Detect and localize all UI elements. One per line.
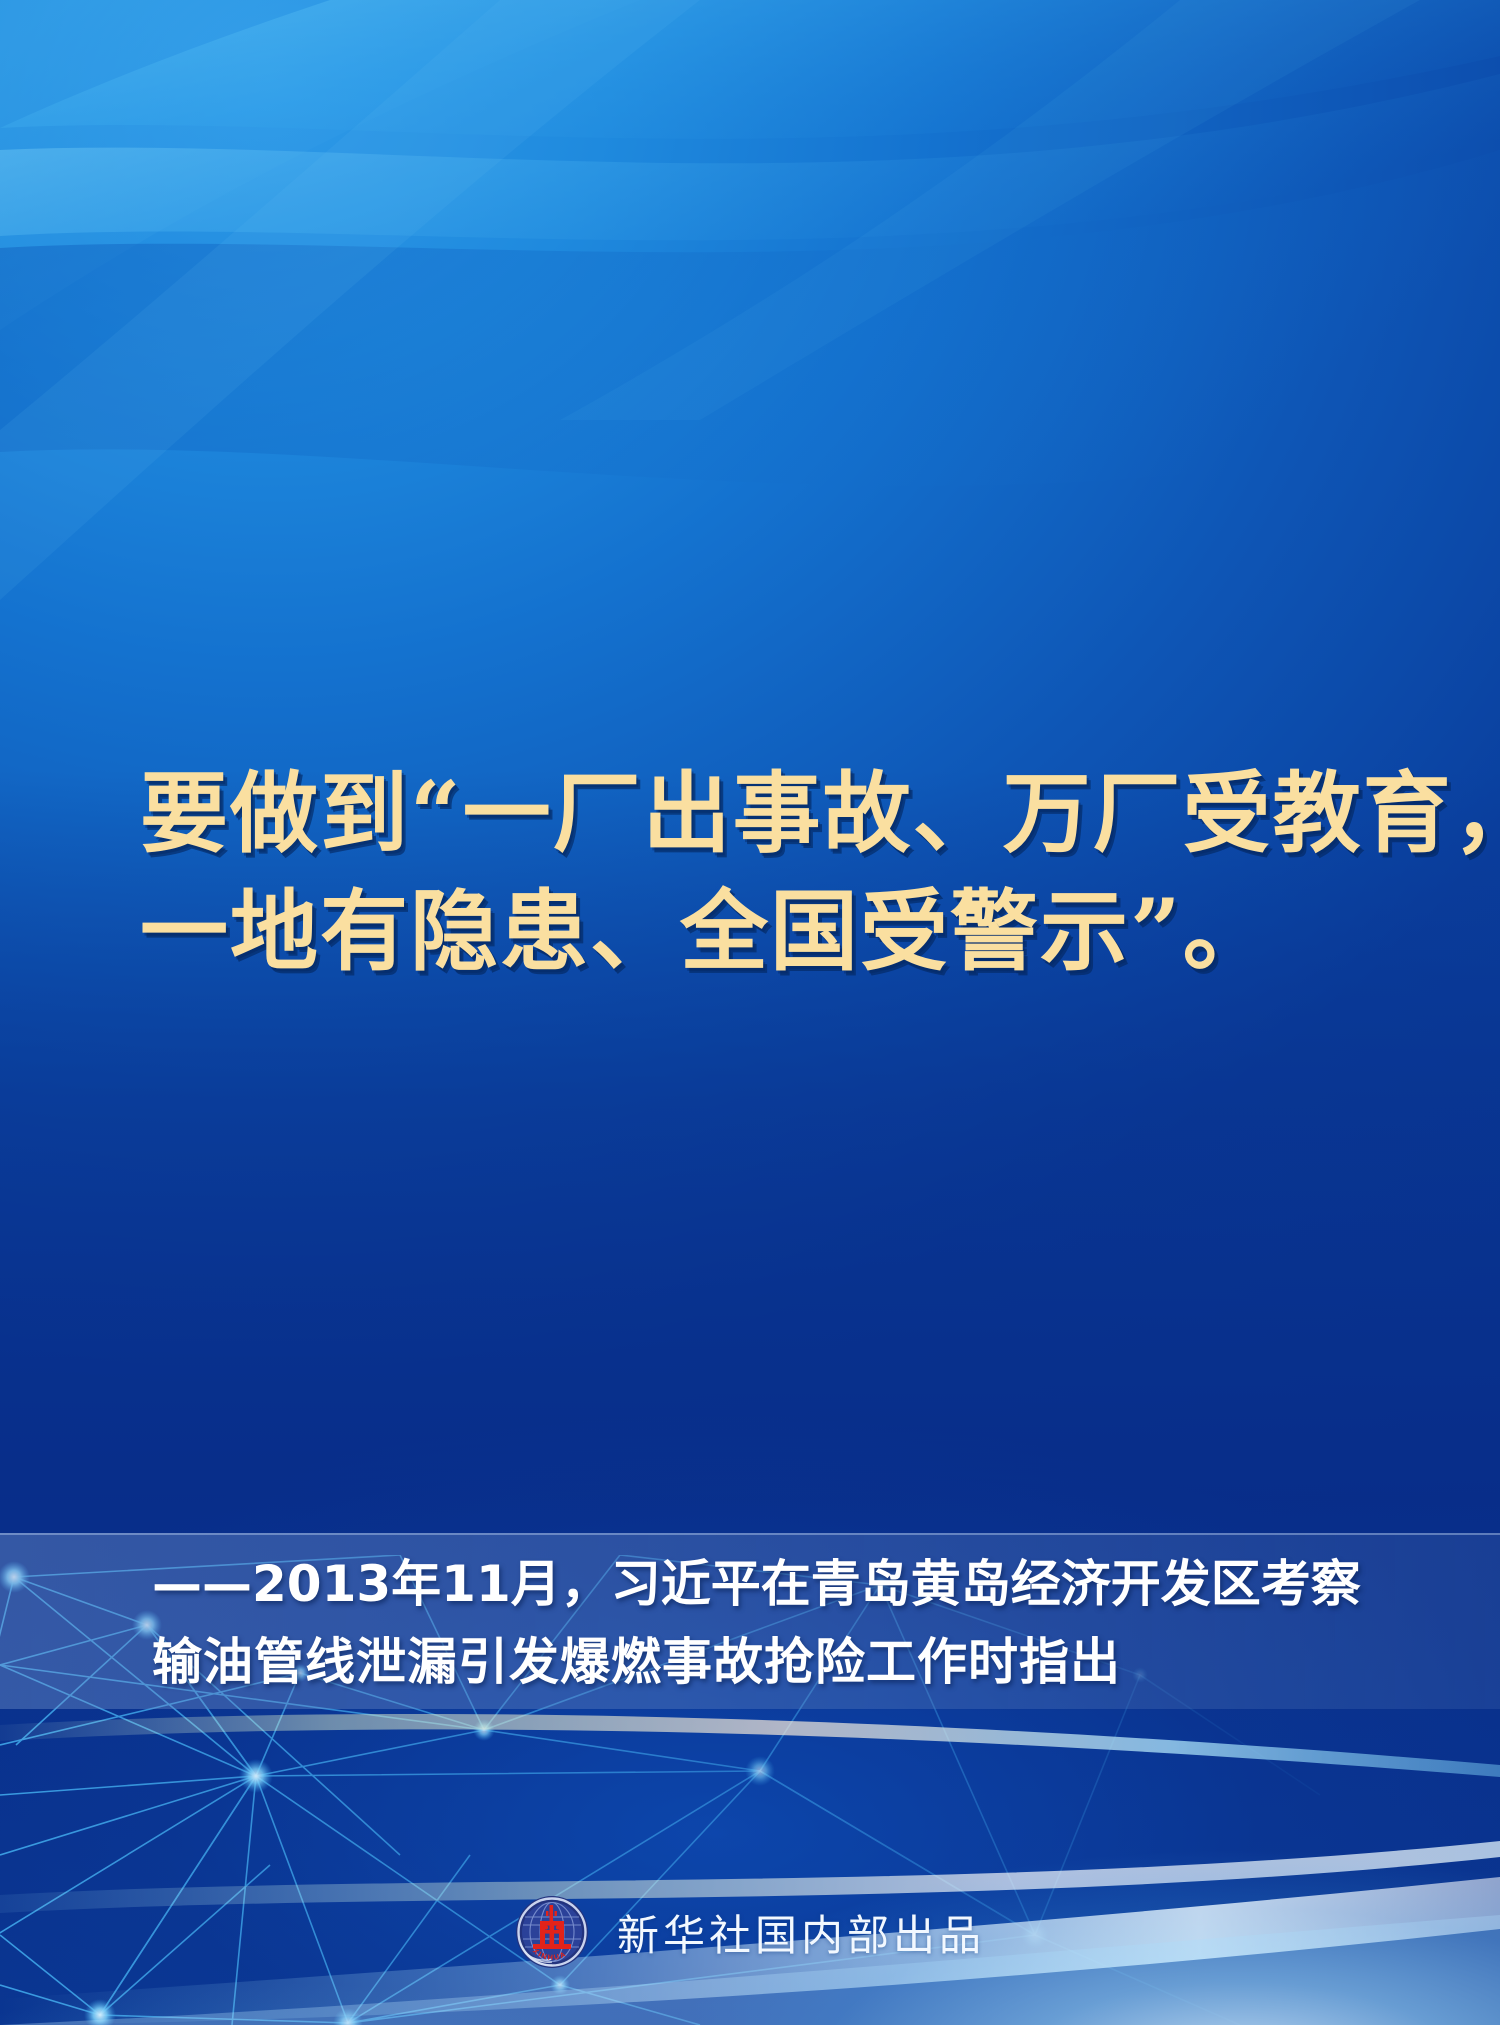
xinhua-logo-icon: XINHUA	[515, 1895, 589, 1969]
attribution-line-1: ——2013年11月，习近平在青岛黄岛经济开发区考察	[152, 1545, 1452, 1623]
footer-credit-text: 新华社国内部出品	[617, 1902, 985, 1963]
quote-line-1: 要做到“一厂出事故、万厂受教育，	[140, 758, 1400, 868]
attribution-line-2: 输油管线泄漏引发爆燃事故抢险工作时指出	[152, 1623, 1452, 1701]
footer-bar: XINHUA 新华社国内部出品	[0, 1877, 1500, 1987]
quote-block: 要做到“一厂出事故、万厂受教育， 一地有隐患、全国受警示”。	[140, 758, 1400, 986]
quote-line-2: 一地有隐患、全国受警示”。	[140, 876, 1400, 986]
quote-poster: 要做到“一厂出事故、万厂受教育， 一地有隐患、全国受警示”。 ——2013年11…	[0, 0, 1500, 2025]
top-swoosh-decoration	[0, 0, 1500, 620]
attribution-block: ——2013年11月，习近平在青岛黄岛经济开发区考察 输油管线泄漏引发爆燃事故抢…	[152, 1545, 1452, 1701]
